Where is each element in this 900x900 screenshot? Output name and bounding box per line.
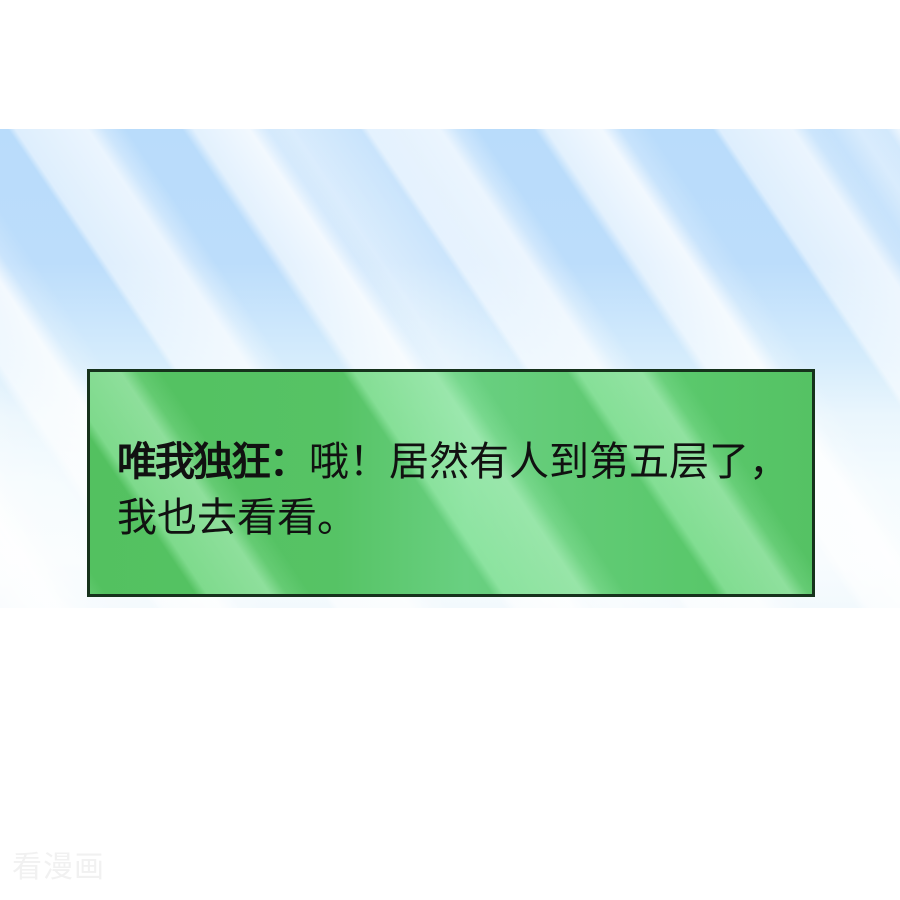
dialogue-speaker-separator: ： <box>269 439 309 485</box>
dialogue-text: 唯我独狂：哦！居然有人到第五层了，我也去看看。 <box>117 434 803 546</box>
comic-page: 唯我独狂：哦！居然有人到第五层了，我也去看看。 看漫画 <box>0 0 900 900</box>
dialogue-box: 唯我独狂：哦！居然有人到第五层了，我也去看看。 <box>87 369 815 597</box>
site-watermark: 看漫画 <box>12 851 105 885</box>
dialogue-speaker-name: 唯我独狂 <box>117 439 269 485</box>
panel-divider-top <box>0 0 900 7</box>
comic-panel: 唯我独狂：哦！居然有人到第五层了，我也去看看。 <box>0 129 900 608</box>
panel-divider-bottom <box>0 7 900 16</box>
